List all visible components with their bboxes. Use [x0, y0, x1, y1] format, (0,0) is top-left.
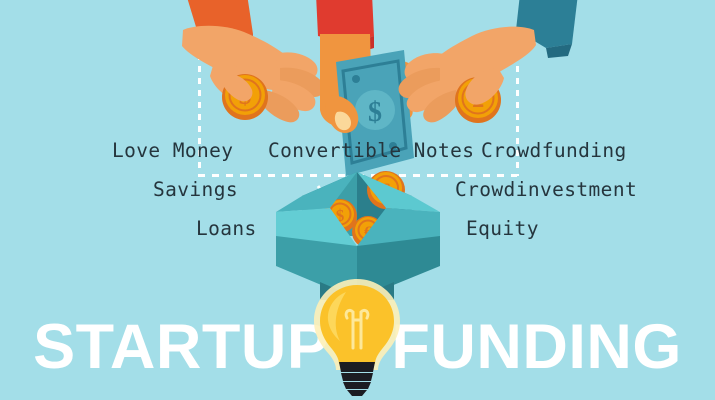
idea-lightbulb — [0, 0, 715, 400]
bulb-base-tip — [347, 390, 367, 396]
bulb-base-3 — [343, 382, 371, 389]
bulb-base-2 — [341, 373, 373, 381]
bulb-base — [339, 362, 375, 372]
startup-funding-infographic: $ $ — [0, 0, 715, 400]
